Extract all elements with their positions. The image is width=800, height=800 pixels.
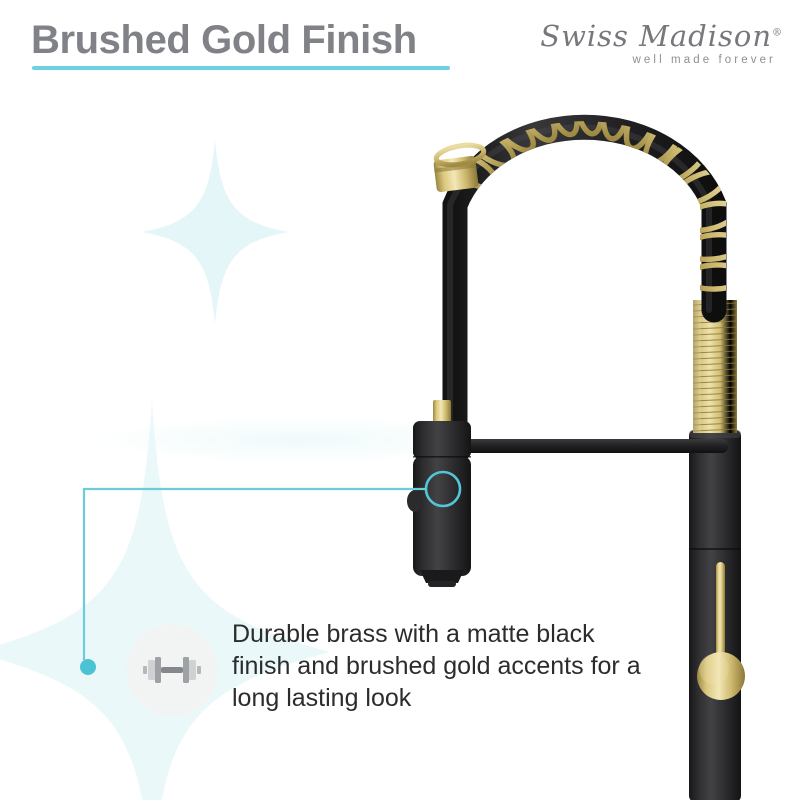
feature-icon-badge bbox=[126, 624, 218, 716]
feature-block: Durable brass with a matte black finish … bbox=[126, 618, 652, 716]
dumbbell-icon bbox=[143, 655, 201, 685]
gold-connector bbox=[433, 400, 451, 422]
horizontal-arm bbox=[432, 439, 728, 453]
feature-description: Durable brass with a matte black finish … bbox=[232, 618, 652, 714]
product-feature-card: Brushed Gold Finish Swiss Madison® well … bbox=[0, 0, 800, 800]
faucet-column bbox=[689, 430, 741, 800]
spray-head bbox=[407, 400, 471, 587]
spray-mode-button[interactable] bbox=[407, 490, 423, 512]
